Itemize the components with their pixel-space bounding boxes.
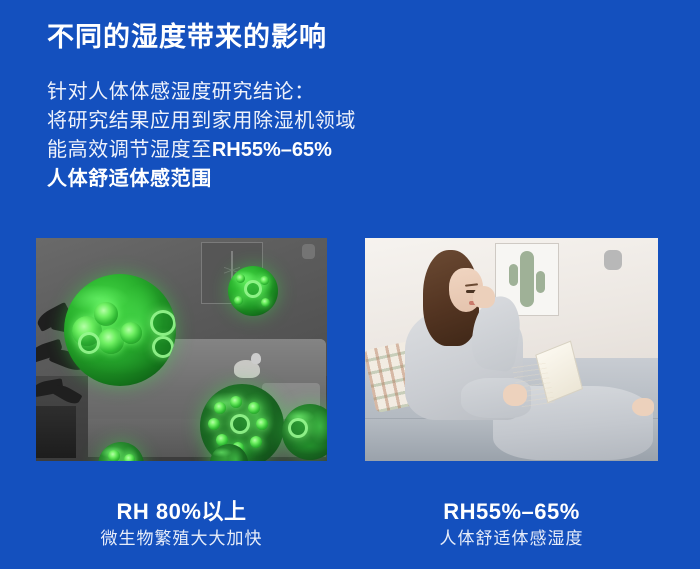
microbe-bud [208,418,220,430]
woman-foot [632,398,654,416]
dim-leaf [52,382,83,407]
microbe-bud [214,402,226,414]
microbe-bud [230,396,242,408]
eyebrow [465,283,478,286]
poster-root: 不同的湿度带来的影响 针对人体体感湿度研究结论： 将研究结果应用到家用除湿机领域… [0,0,700,569]
microbe-ring [150,310,176,336]
hand-holding-book [503,384,527,406]
microbe-bud [256,418,268,430]
dim-plant-pot [36,406,76,458]
dim-room-scene [36,238,327,461]
caption-comfort-humidity: RH55%–65% 人体舒适体感湿度 [365,498,658,552]
hand-at-forehead [473,286,495,308]
body-line-1: 针对人体体感湿度研究结论： [47,78,447,107]
caption-sub-left: 微生物繁殖大大加快 [36,526,327,552]
woman-reading [365,238,658,461]
microbe-cluster-large [64,274,176,386]
microbe-bud [248,402,260,414]
microbe-ring [78,332,100,354]
microbe-bud [250,436,262,448]
photo-comfort-humidity [365,238,658,461]
microbe-bud [120,322,142,344]
humidity-range-highlight: RH55%–65% [212,139,332,161]
microbe-bud [94,302,118,326]
microbe-ring [288,418,308,438]
caption-main-right: RH55%–65% [365,498,658,526]
body-copy: 针对人体体感湿度研究结论： 将研究结果应用到家用除湿机领域 能高效调节湿度至RH… [47,78,447,194]
microbe-bud [108,450,120,461]
body-line-3: 能高效调节湿度至RH55%–65% [47,136,447,165]
caption-high-humidity: RH 80%以上 微生物繁殖大大加快 [36,498,327,552]
microbe-bud [261,298,270,307]
wall-speaker-icon [302,244,315,259]
microbe-ring [152,336,174,358]
body-line-4: 人体舒适体感范围 [47,165,447,194]
caption-main-left: RH 80%以上 [36,498,327,526]
body-line-2: 将研究结果应用到家用除湿机领域 [47,107,447,136]
microbe-ring [244,280,262,298]
microbe-ring [230,414,250,434]
dim-cat [234,360,260,378]
bright-room-scene [365,238,658,461]
microbe-small-top [228,266,278,316]
microbe-bud [124,454,135,461]
caption-sub-right: 人体舒适体感湿度 [365,526,658,552]
body-line-3-prefix: 能高效调节湿度至 [47,139,212,161]
microbe-bud [236,274,245,283]
microbe-bud [234,296,243,305]
page-title: 不同的湿度带来的影响 [47,18,327,56]
microbe-bud [260,276,269,285]
photo-high-humidity [36,238,327,461]
